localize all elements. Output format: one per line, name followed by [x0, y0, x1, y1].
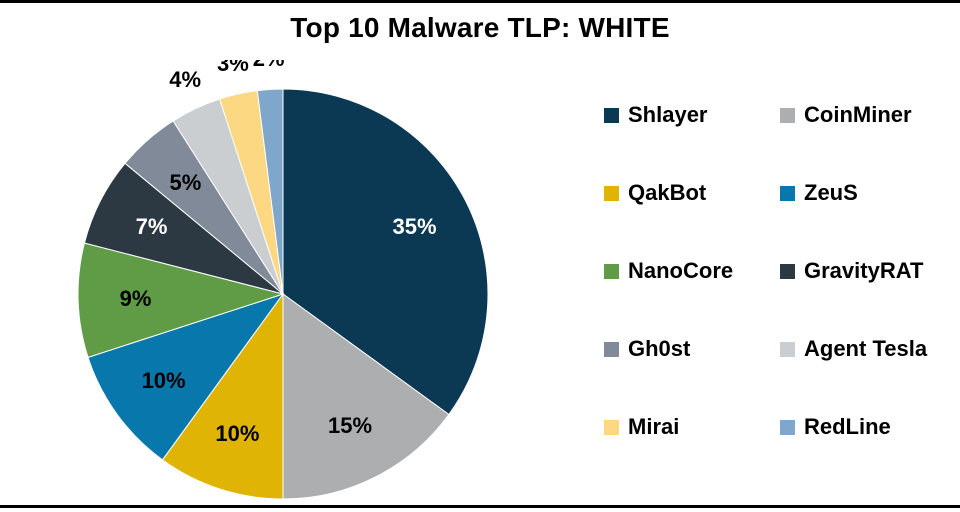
legend-item-label: CoinMiner [804, 104, 912, 126]
legend-item-nanocore[interactable]: NanoCore [604, 256, 780, 286]
legend-item-mirai[interactable]: Mirai [604, 412, 780, 442]
legend-item-coinminer[interactable]: CoinMiner [780, 100, 956, 130]
legend-item-zeus[interactable]: ZeuS [780, 178, 956, 208]
legend-item-agent-tesla[interactable]: Agent Tesla [780, 334, 956, 364]
legend-item-label: RedLine [804, 416, 891, 438]
legend-item-label: Gh0st [628, 338, 690, 360]
legend-swatch-icon [780, 108, 795, 123]
pie-chart-plot-area: 35%15%10%10%9%7%5%4%3%2% [40, 60, 540, 506]
legend-item-label: ZeuS [804, 182, 858, 204]
legend-item-gh0st[interactable]: Gh0st [604, 334, 780, 364]
chart-legend: ShlayerCoinMinerQakBotZeuSNanoCoreGravit… [604, 100, 956, 490]
legend-swatch-icon [604, 108, 619, 123]
legend-swatch-icon [604, 342, 619, 357]
legend-item-gravityrat[interactable]: GravityRAT [780, 256, 956, 286]
legend-item-label: Agent Tesla [804, 338, 927, 360]
legend-swatch-icon [780, 264, 795, 279]
legend-swatch-icon [780, 420, 795, 435]
bottom-border-rule [0, 505, 960, 508]
legend-swatch-icon [604, 420, 619, 435]
legend-item-label: Shlayer [628, 104, 708, 126]
legend-item-qakbot[interactable]: QakBot [604, 178, 780, 208]
legend-swatch-icon [780, 342, 795, 357]
legend-item-label: GravityRAT [804, 260, 923, 282]
chart-title: Top 10 Malware TLP: WHITE [0, 12, 960, 44]
legend-swatch-icon [604, 264, 619, 279]
legend-item-redline[interactable]: RedLine [780, 412, 956, 442]
legend-item-label: Mirai [628, 416, 679, 438]
legend-swatch-icon [780, 186, 795, 201]
legend-swatch-icon [604, 186, 619, 201]
pie-chart-svg [40, 60, 540, 506]
legend-item-shlayer[interactable]: Shlayer [604, 100, 780, 130]
chart-canvas: Top 10 Malware TLP: WHITE 35%15%10%10%9%… [0, 0, 960, 512]
legend-item-label: NanoCore [628, 260, 733, 282]
top-border-rule [0, 0, 960, 3]
legend-item-label: QakBot [628, 182, 706, 204]
